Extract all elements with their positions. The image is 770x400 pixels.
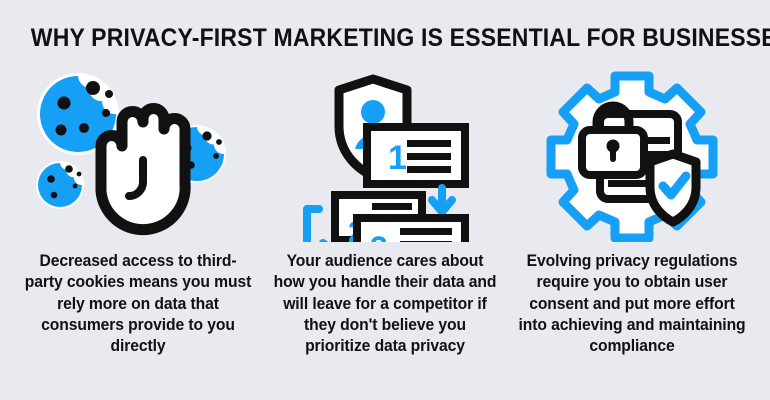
shield-check-icon bbox=[650, 154, 696, 222]
caption-regulations: Evolving privacy regulations require you… bbox=[517, 251, 747, 357]
arrow-down-icon bbox=[432, 188, 452, 212]
cookie-small-icon bbox=[36, 161, 84, 209]
step-number-3: 3 bbox=[370, 230, 388, 242]
gear-lock-compliance-icon bbox=[517, 68, 747, 243]
column-regulations: Evolving privacy regulations require you… bbox=[509, 68, 756, 357]
stop-hand-cookies-icon bbox=[23, 68, 253, 243]
arrow-right-icon bbox=[307, 209, 335, 242]
infographic-canvas: WHY PRIVACY-FIRST MARKETING IS ESSENTIAL… bbox=[0, 0, 770, 400]
shield-user-steps-icon: 1 2 bbox=[270, 68, 500, 243]
step-card-3: 3 bbox=[357, 218, 465, 242]
column-list: Decreased access to third-party cookies … bbox=[0, 68, 770, 388]
step-card-1: 1 bbox=[367, 127, 465, 184]
column-cookies: Decreased access to third-party cookies … bbox=[14, 68, 261, 357]
column-audience-trust: 1 2 bbox=[261, 68, 508, 357]
caption-audience-trust: Your audience cares about how you handle… bbox=[270, 251, 500, 357]
caption-cookies: Decreased access to third-party cookies … bbox=[23, 251, 253, 357]
step-number-1: 1 bbox=[388, 139, 407, 177]
page-title: WHY PRIVACY-FIRST MARKETING IS ESSENTIAL… bbox=[31, 24, 739, 53]
